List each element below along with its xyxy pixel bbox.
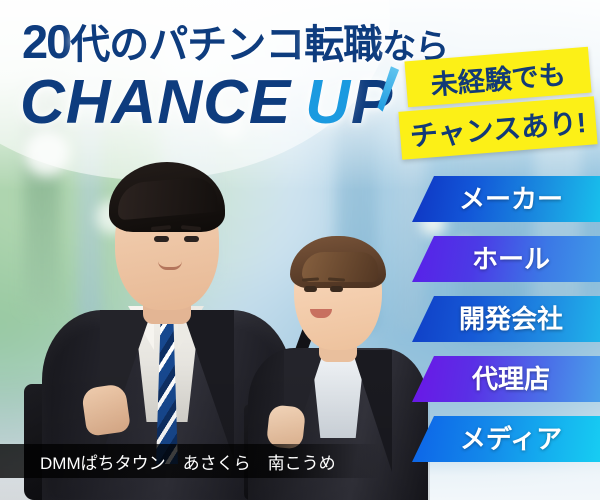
tag-label: 代理店	[412, 366, 600, 392]
headline-segment-2: パチンコ	[148, 23, 304, 67]
logo-word-up: UP	[305, 72, 393, 134]
tag-maker[interactable]: メーカー	[412, 176, 600, 222]
job-category-tag-list: メーカー ホール 開発会社 代理店 メディア	[412, 176, 600, 476]
headline-text: 20代のパチンコ転職なら	[22, 18, 448, 65]
eye-left	[154, 236, 169, 242]
eye-left	[304, 286, 317, 292]
hair	[109, 162, 225, 232]
tag-label: 開発会社	[412, 306, 600, 332]
jacket-lapel-right	[182, 310, 234, 460]
caption-bar: DMMぱちタウン あさくら 南こうめ	[0, 444, 380, 478]
advertisement-banner[interactable]: 20代のパチンコ転職なら CHANCEUP 未経験でも チャンスあり! メーカー…	[0, 0, 600, 500]
tag-development-company[interactable]: 開発会社	[412, 296, 600, 342]
eye-right	[330, 286, 343, 292]
logo-letter-u: U	[305, 72, 351, 134]
experience-badge: 未経験でも チャンスあり!	[400, 52, 596, 162]
headline-number: 20	[22, 15, 70, 68]
logo-word-chance: CHANCE	[20, 68, 291, 137]
hand	[81, 383, 131, 437]
tag-agency[interactable]: 代理店	[412, 356, 600, 402]
eye-right	[184, 236, 199, 242]
chance-up-logo: CHANCEUP	[20, 72, 393, 134]
tag-label: メディア	[412, 426, 600, 452]
tag-label: ホール	[412, 246, 600, 272]
tag-label: メーカー	[412, 186, 600, 212]
headline-segment-1: 代の	[70, 23, 148, 67]
hand	[266, 404, 306, 450]
badge-line-2: チャンスあり!	[398, 96, 597, 160]
tag-hall[interactable]: ホール	[412, 236, 600, 282]
headline-segment-3: 転職	[304, 23, 382, 67]
caption-text: DMMぱちタウン あさくら 南こうめ	[0, 449, 336, 474]
tag-media[interactable]: メディア	[412, 416, 600, 462]
